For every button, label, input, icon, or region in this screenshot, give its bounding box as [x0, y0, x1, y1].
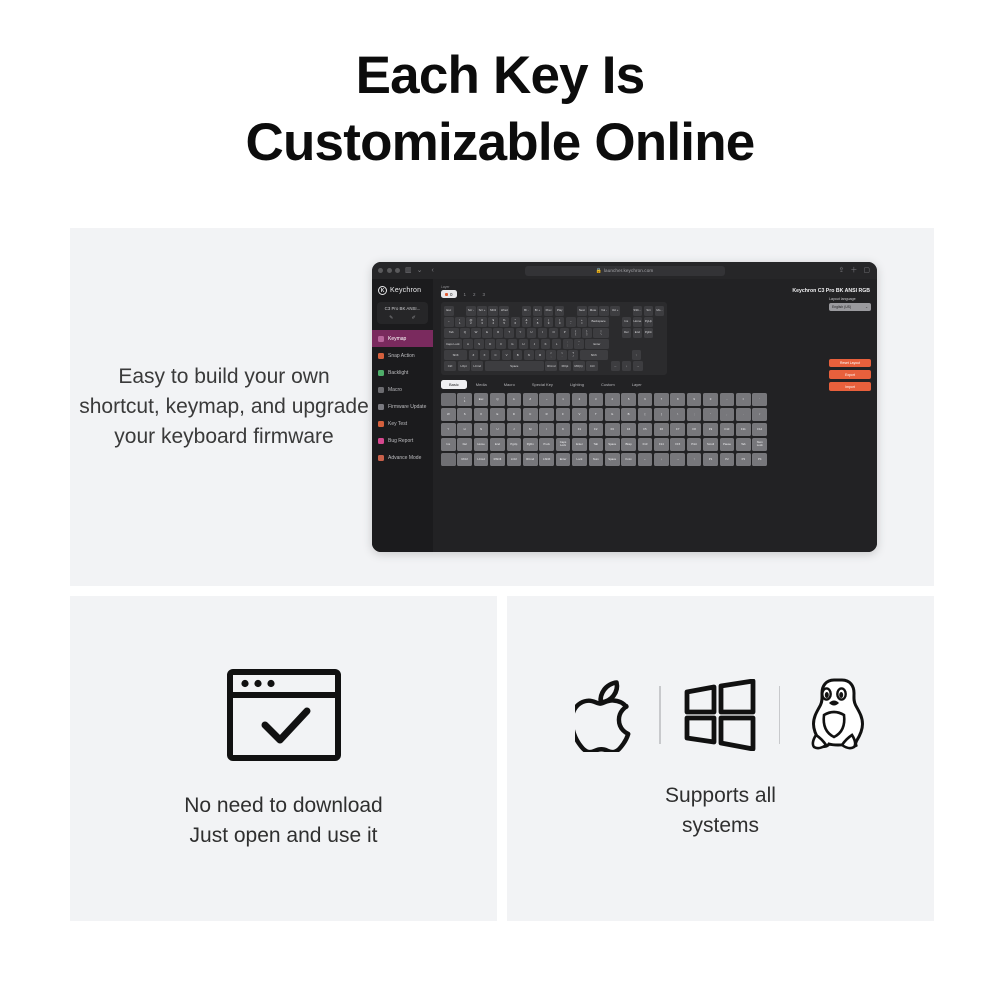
tab-lighting[interactable]: Lighting [562, 380, 592, 389]
keyboard-key[interactable]: S [474, 339, 484, 349]
keyboard-key[interactable]: Vol + [610, 306, 620, 316]
apple-logo-icon [575, 678, 637, 752]
keyboard-key[interactable]: |\ [593, 328, 609, 338]
keyboard-key[interactable]: E [482, 328, 492, 338]
sidebar-toggle-icon[interactable]: ▥ [405, 267, 412, 274]
keyboard-key[interactable]: {[ [571, 328, 581, 338]
keyboard-key[interactable]: (9 [544, 317, 554, 327]
keyboard-key[interactable]: → [633, 361, 643, 371]
keyboard-key[interactable]: I [538, 328, 548, 338]
keycode-cap[interactable]: - [720, 393, 735, 406]
keyboard-key[interactable]: PgDn [644, 328, 654, 338]
keyboard-key[interactable]: W [471, 328, 481, 338]
sidebar-item-keymap[interactable]: Keymap [372, 330, 433, 347]
keycode-cap[interactable]: F8 [687, 423, 702, 436]
keyboard-key[interactable]: R [493, 328, 503, 338]
keyboard-key[interactable]: ↑ [632, 350, 642, 360]
keyboard-key[interactable]: @2 [466, 317, 476, 327]
keyboard-key[interactable]: )0 [555, 317, 565, 327]
keycode-cap[interactable]: ↓ [654, 453, 669, 466]
keyboard-row: ShiftZXCVBNM<,>.?/Shift↑ [444, 350, 664, 360]
sidebar-item-label: Key Test [388, 421, 407, 427]
keyboard-key[interactable]: :; [563, 339, 573, 349]
keycode-cap[interactable]: LCtrl [507, 453, 522, 466]
sidebar-item-macro[interactable]: Macro [372, 381, 433, 398]
address-bar[interactable]: 🔒 launcher.keychron.com [525, 266, 725, 276]
keycode-cap[interactable]: End [490, 438, 505, 451]
keycode-cap[interactable]: E [490, 408, 505, 421]
sidebar-item-key-test[interactable]: Key Test [372, 415, 433, 432]
device-card[interactable]: C3 Pro BK ANSI... ✎ ✐ [377, 302, 428, 324]
sidebar-item-label: Firmware Update [388, 404, 426, 410]
keyboard-key[interactable]: L [552, 339, 562, 349]
keyboard-key[interactable]: C [491, 350, 501, 360]
keycode-cap[interactable]: C [523, 408, 538, 421]
keycode-cap[interactable]: P3 [736, 453, 751, 466]
keyboard-key[interactable]: Esc [444, 306, 454, 316]
keycode-cap[interactable]: K [556, 423, 571, 436]
keyboard-key[interactable]: ROpt [559, 361, 571, 371]
keyboard-row: CtrlLOptLCmdSpaceRCmdROptMO(1)Ctrl←↓→ [444, 361, 664, 371]
keycode-cap[interactable]: Print [687, 438, 702, 451]
keycode-cap[interactable]: 5 [621, 393, 636, 406]
keycode-cap[interactable]: ` [752, 393, 767, 406]
keycode-row: InsDelHomeEndPgUpPgDnP.LckCapsLockEnterT… [441, 438, 870, 451]
brand: K Keychron [372, 284, 433, 299]
keyboard-key[interactable]: T [504, 328, 514, 338]
keyboard-key[interactable]: Tab [444, 328, 459, 338]
keyboard-key[interactable]: Prev [544, 306, 554, 316]
address-bar-url: launcher.keychron.com [604, 268, 653, 273]
keyboard-key[interactable]: End [633, 328, 643, 338]
tab-macro[interactable]: Macro [496, 380, 523, 389]
keyboard-key[interactable]: >. [557, 350, 567, 360]
keycode-cap[interactable]: P4 [752, 453, 767, 466]
keycode-cap[interactable]: ~ [539, 393, 554, 406]
layout-action-buttons: Reset LayoutExportImport [829, 359, 871, 391]
key-spacer [566, 306, 576, 316]
keyboard-key[interactable]: Space [485, 361, 544, 371]
sidebar-item-firmware-update[interactable]: Firmware Update [372, 398, 433, 415]
keyboard-key[interactable]: LPad [499, 306, 509, 316]
keyboard-key[interactable]: Scr - [466, 306, 476, 316]
no-download-caption-line-2: Just open and use it [184, 821, 383, 851]
keyboard-key[interactable]: ← [611, 361, 621, 371]
keycode-cap[interactable]: Lock [572, 453, 587, 466]
layer-caption: Layer [441, 285, 485, 289]
keycode-cap[interactable] [441, 393, 456, 406]
keyboard-key[interactable]: Caps Lock [444, 339, 462, 349]
keycode-cap[interactable]: F2 [589, 423, 604, 436]
keycode-cap[interactable]: 7 [654, 393, 669, 406]
keycode-cap[interactable]: / [752, 408, 767, 421]
keyboard-layout[interactable]: EscScr -Scr +MCtlLPadBr -Br +PrevPlayNex… [441, 302, 667, 375]
keycode-cap[interactable]: F12 [752, 423, 767, 436]
keyboard-key[interactable]: Siri [644, 306, 654, 316]
keyboard-row: EscScr -Scr +MCtlLPadBr -Br +PrevPlayNex… [444, 306, 664, 316]
keyboard-key[interactable]: *8 [533, 317, 543, 327]
keycode-cap[interactable]: ' [703, 408, 718, 421]
tab-special-key[interactable]: Special Key [524, 380, 561, 389]
keycode-cap[interactable]: Bksp [621, 438, 636, 451]
keyboard-key[interactable]: Br + [533, 306, 543, 316]
keyboard-key[interactable]: %5 [499, 317, 509, 327]
keyboard-key[interactable]: !1 [455, 317, 465, 327]
key-test-icon [378, 421, 384, 427]
keycode-cap[interactable]: Enter [572, 438, 587, 451]
keycode-cap[interactable]: ← [638, 453, 653, 466]
layout-language-value: English (US) [832, 305, 851, 309]
key-spacer [610, 328, 620, 338]
keyboard-key[interactable]: A [463, 339, 473, 349]
brand-name: Keychron [390, 287, 421, 294]
keycode-cap[interactable]: CapsLock [556, 438, 571, 451]
device-actions: ✎ ✐ [380, 315, 425, 321]
keyboard-key[interactable]: Z [469, 350, 479, 360]
tabs-icon[interactable]: ▢ [863, 267, 870, 274]
launcher-copy-line-4: your keyboard [114, 425, 247, 448]
keyboard-key[interactable]: LCmd [471, 361, 483, 371]
keyboard-key[interactable]: Home [633, 317, 643, 327]
keycode-cap[interactable]: Z [523, 393, 538, 406]
keycode-cap[interactable]: Enter [556, 453, 571, 466]
supports-systems-caption-line-1: Supports all [665, 781, 776, 811]
keyboard-key[interactable]: K [541, 339, 551, 349]
keyboard-key[interactable]: Ctrl [444, 361, 456, 371]
feature-card-no-download: No need to download Just open and use it [70, 596, 497, 921]
keyboard-key[interactable]: ?/ [568, 350, 578, 360]
keyboard-key[interactable]: RCmd [545, 361, 557, 371]
keyboard-key[interactable]: Br - [522, 306, 532, 316]
keyboard-key[interactable]: F [496, 339, 506, 349]
keycode-cap[interactable]: N [474, 423, 489, 436]
keycode-cap[interactable]: M [523, 423, 538, 436]
feature-card-launcher: Easy to build your own shortcut, keymap,… [70, 228, 934, 586]
keycode-cap[interactable]: F15 [670, 438, 685, 451]
keyboard-key[interactable]: Ins [622, 317, 632, 327]
keycode-cap[interactable]: ] [654, 408, 669, 421]
keycode-cap[interactable]: W [441, 408, 456, 421]
keycode-cap[interactable]: RCtrl [457, 453, 472, 466]
keycode-cap[interactable]: PgDn [523, 438, 538, 451]
pencil-icon[interactable]: ✎ [389, 315, 393, 321]
keycode-cap[interactable]: F7 [670, 423, 685, 436]
keycode-cap[interactable]: Tab [589, 438, 604, 451]
firmware-update-icon [378, 404, 384, 410]
chevron-down-icon: ⌄ [865, 305, 868, 309]
keycode-cap[interactable]: PgUp [507, 438, 522, 451]
close-window-icon[interactable] [378, 268, 383, 273]
launcher-app: K Keychron C3 Pro BK ANSI... ✎ ✐ KeymapS… [372, 279, 877, 552]
keycode-cap[interactable]: F14 [654, 438, 669, 451]
keyboard-row: TabQWERTYUIOP{[}]|\DelEndPgDn [444, 328, 664, 338]
key-spacer [455, 306, 465, 316]
keycode-cap[interactable]: Del [457, 438, 472, 451]
import-button[interactable]: Import [829, 382, 871, 390]
sidebar-item-label: Snap Action [388, 353, 415, 359]
keycode-row: RCtrlLCmdRShiftLCtrlRCmdLShiftEnterLockN… [441, 453, 870, 466]
page-title-line-2: Customizable Online [0, 109, 1000, 176]
tab-basic[interactable]: Basic [441, 380, 467, 389]
keyboard-key[interactable]: P [560, 328, 570, 338]
keycode-cap[interactable]: U [490, 423, 505, 436]
keycode-cap[interactable]: LCmd [474, 453, 489, 466]
keycode-cap[interactable]: S [457, 408, 472, 421]
keyboard-key[interactable]: Scr + [477, 306, 487, 316]
layout-language-select[interactable]: English (US) ⌄ [829, 303, 871, 311]
keyboard-key[interactable]: X [480, 350, 490, 360]
keycode-cap[interactable]: R [539, 408, 554, 421]
keycode-cap[interactable]: T [589, 408, 604, 421]
keycode-cap[interactable]: Home [474, 438, 489, 451]
keycode-cap[interactable]: J [507, 423, 522, 436]
keycode-cap[interactable]: P2 [720, 453, 735, 466]
keychron-logo-icon: K [378, 286, 387, 295]
keyboard-key[interactable]: #3 [477, 317, 487, 327]
keymap-icon [378, 336, 384, 342]
keycode-cap[interactable]: ↑ [687, 453, 702, 466]
layer-tab-selected-label: 0 [450, 292, 453, 297]
chevron-down-icon[interactable]: ⌄ [417, 267, 423, 274]
keycode-cap[interactable]: = [736, 393, 751, 406]
bug-report-icon [378, 438, 384, 444]
keycode-cap[interactable]: F13 [638, 438, 653, 451]
key-spacer [610, 317, 620, 327]
layer-tab-2[interactable]: 2 [473, 292, 476, 297]
keyboard-key[interactable]: Del [622, 328, 632, 338]
supports-systems-caption: Supports all systems [665, 781, 776, 841]
keyboard-key[interactable]: MCtl [488, 306, 498, 316]
browser-check-icon [225, 667, 343, 763]
layer-tab-selected[interactable]: 0 [441, 290, 457, 298]
keycode-cap[interactable]: Num [589, 453, 604, 466]
keyboard-key[interactable]: "' [574, 339, 584, 349]
reset-layout-button[interactable]: Reset Layout [829, 359, 871, 367]
keyboard-key[interactable]: N [524, 350, 534, 360]
keyboard-key[interactable]: Shift [580, 350, 608, 360]
keyboard-key[interactable]: D [485, 339, 495, 349]
backlight-icon [378, 370, 384, 376]
layer-tab-1[interactable]: 1 [464, 292, 467, 297]
keyboard-key[interactable]: Mute [588, 306, 598, 316]
keycode-grid[interactable]: !1EscQAZ~1234567890-=`WSXEDCRFVTGB[]\;',… [441, 393, 870, 465]
keycode-cap[interactable] [441, 453, 456, 466]
keyboard-key[interactable]: ^6 [511, 317, 521, 327]
keycode-cap[interactable]: LShift [539, 453, 554, 466]
key-spacer [511, 306, 521, 316]
no-download-caption-line-1: No need to download [184, 791, 383, 821]
maximize-window-icon[interactable] [395, 268, 400, 273]
keyboard-key[interactable]: <, [546, 350, 556, 360]
keycode-cap[interactable]: Esc [474, 393, 489, 406]
keyboard-key[interactable]: Play [555, 306, 565, 316]
keycode-cap[interactable]: F6 [654, 423, 669, 436]
keycode-cap[interactable]: Kmix [621, 453, 636, 466]
keycode-cap[interactable]: !1 [457, 393, 472, 406]
keycode-cap[interactable]: Pause [720, 438, 735, 451]
window-controls[interactable] [378, 268, 400, 273]
keyboard-key[interactable]: H [519, 339, 529, 349]
keyboard-key[interactable]: $4 [488, 317, 498, 327]
keycode-cap[interactable]: G [605, 408, 620, 421]
keyboard-key[interactable]: Backspace [588, 317, 609, 327]
keycode-picker-tabs: BasicMediaMacroSpecial KeyLightingCustom… [441, 380, 870, 389]
keycode-cap[interactable]: P.Lck [539, 438, 554, 451]
keyboard-key[interactable]: MO(1) [573, 361, 585, 371]
keycode-cap[interactable]: 3 [589, 393, 604, 406]
minimize-window-icon[interactable] [387, 268, 392, 273]
layer-tab-3[interactable]: 3 [483, 292, 486, 297]
keycode-cap[interactable]: \ [670, 408, 685, 421]
os-logo-row [575, 677, 866, 753]
keycode-cap[interactable]: Space [605, 438, 620, 451]
sidebar-item-label: Backlight [388, 370, 408, 376]
keyboard-key[interactable]: PgUp [644, 317, 654, 327]
keycode-cap[interactable]: D [507, 408, 522, 421]
main-header: Layer 0 1 2 3 Keychron C3 [441, 285, 870, 298]
keyboard-key[interactable]: += [577, 317, 587, 327]
keycode-cap[interactable]: Space [605, 453, 620, 466]
keycode-cap[interactable]: F3 [605, 423, 620, 436]
keyboard-key[interactable]: Next [577, 306, 587, 316]
layer-color-swatch [445, 293, 448, 296]
advance-mode-icon [378, 455, 384, 461]
keycode-cap[interactable]: A [507, 393, 522, 406]
linux-penguin-icon [802, 677, 866, 753]
keyboard-key[interactable]: &7 [522, 317, 532, 327]
keycode-cap[interactable]: F1 [572, 423, 587, 436]
lock-icon: 🔒 [596, 268, 602, 274]
keycode-cap[interactable]: F5 [638, 423, 653, 436]
browser-chrome: ▥ ⌄ ‹ 🔒 launcher.keychron.com ⇪ ＋ ▢ [372, 262, 877, 279]
launcher-copy-line-5: firmware [253, 425, 334, 448]
key-spacer [620, 350, 630, 360]
keyboard-key[interactable]: }] [582, 328, 592, 338]
logo-divider-2 [779, 686, 781, 744]
keycode-picker: BasicMediaMacroSpecial KeyLightingCustom… [441, 380, 870, 466]
keycode-cap[interactable]: Tab [736, 438, 751, 451]
keycode-cap[interactable]: 6 [638, 393, 653, 406]
browser-chrome-actions: ⇪ ＋ ▢ [839, 267, 871, 274]
keyboard-key[interactable]: G [508, 339, 518, 349]
keycode-cap[interactable]: F [556, 408, 571, 421]
sidebar-item-label: Advance Mode [388, 455, 421, 461]
keycode-cap[interactable]: 0 [703, 393, 718, 406]
sidebar-item-backlight[interactable]: Backlight [372, 364, 433, 381]
keycode-cap[interactable]: 9 [687, 393, 702, 406]
keyboard-row: Caps LockASDFGHJKL:;"'Enter [444, 339, 664, 349]
tab-custom[interactable]: Custom [593, 380, 623, 389]
keyboard-row: ~!1@2#3$4%5^6&7*8(9)0_-+=BackspaceInsHom… [444, 317, 664, 327]
app-sidebar: K Keychron C3 Pro BK ANSI... ✎ ✐ KeymapS… [372, 279, 433, 552]
keyboard-key[interactable]: Vol - [599, 306, 609, 316]
wand-icon[interactable]: ✐ [412, 315, 416, 321]
keycode-cap[interactable]: → [670, 453, 685, 466]
tab-media[interactable]: Media [468, 380, 495, 389]
keycode-cap[interactable]: 4 [605, 393, 620, 406]
keycode-row: !1EscQAZ~1234567890-=` [441, 393, 870, 406]
keyboard-key[interactable]: Shift [444, 350, 467, 360]
keyboard-key[interactable]: O [549, 328, 559, 338]
key-spacer [600, 361, 610, 371]
keyboard-key[interactable]: B [513, 350, 523, 360]
plus-icon[interactable]: ＋ [850, 267, 857, 274]
key-spacer [622, 306, 632, 316]
keyboard-key[interactable]: ~ [444, 317, 454, 327]
page-title: Each Key Is Customizable Online [0, 0, 1000, 177]
keycode-cap[interactable]: I [539, 423, 554, 436]
logo-divider-1 [659, 686, 661, 744]
keycode-cap[interactable]: V [572, 408, 587, 421]
launcher-copy: Easy to build your own shortcut, keymap,… [70, 362, 370, 451]
keycode-cap[interactable]: RCmd [523, 453, 538, 466]
keycode-cap[interactable]: ; [687, 408, 702, 421]
keycode-cap[interactable]: RShift [490, 453, 505, 466]
keycode-cap[interactable]: B [621, 408, 636, 421]
layout-language-panel: Layout language English (US) ⌄ Reset Lay… [829, 297, 871, 391]
keycode-cap[interactable]: P1 [703, 453, 718, 466]
keycode-cap[interactable]: 8 [670, 393, 685, 406]
share-icon[interactable]: ⇪ [839, 267, 845, 274]
keycode-cap[interactable]: [ [638, 408, 653, 421]
keycode-cap[interactable]: X [474, 408, 489, 421]
keycode-cap[interactable]: F10 [720, 423, 735, 436]
supports-systems-caption-line-2: systems [665, 811, 776, 841]
keycode-cap[interactable]: 2 [572, 393, 587, 406]
keyboard-key[interactable]: Ctrl [586, 361, 598, 371]
keyboard-key[interactable]: LOpt [458, 361, 470, 371]
keyboard-key[interactable]: ↓ [622, 361, 632, 371]
keycode-cap[interactable]: 1 [556, 393, 571, 406]
keycode-cap[interactable]: F4 [621, 423, 636, 436]
keycode-cap[interactable]: F9 [703, 423, 718, 436]
launcher-copy-line-1: Easy to build your [118, 365, 285, 388]
no-download-caption: No need to download Just open and use it [184, 791, 383, 851]
layout-language-label: Layout language [829, 297, 871, 301]
keyboard-key[interactable]: J [530, 339, 540, 349]
sidebar-item-label: Keymap [388, 336, 406, 342]
keycode-cap[interactable]: F11 [736, 423, 751, 436]
keycode-cap[interactable]: . [736, 408, 751, 421]
keycode-cap[interactable]: Ins [441, 438, 456, 451]
sidebar-item-advance-mode[interactable]: Advance Mode [372, 449, 433, 466]
keycode-cap[interactable]: , [720, 408, 735, 421]
keyboard-key[interactable]: Mo... [655, 306, 665, 316]
keyboard-key[interactable]: Q [460, 328, 470, 338]
sidebar-item-bug-report[interactable]: Bug Report [372, 432, 433, 449]
keycode-cap[interactable]: Scroll [703, 438, 718, 451]
layer-tabs: 0 1 2 3 [441, 290, 485, 298]
key-spacer [609, 350, 619, 360]
keycode-cap[interactable]: H [457, 423, 472, 436]
keyboard-key[interactable]: _- [566, 317, 576, 327]
browser-window: ▥ ⌄ ‹ 🔒 launcher.keychron.com ⇪ ＋ ▢ K [372, 262, 877, 552]
keyboard-key[interactable]: M [535, 350, 545, 360]
export-button[interactable]: Export [829, 370, 871, 378]
chevron-left-icon[interactable]: ‹ [432, 267, 434, 274]
tab-layer[interactable]: Layer [624, 380, 650, 389]
keyboard-key[interactable]: U [527, 328, 537, 338]
keyboard-key[interactable]: SSh... [633, 306, 643, 316]
keyboard-key[interactable]: V [502, 350, 512, 360]
macro-icon [378, 387, 384, 393]
keycode-cap[interactable]: Y [441, 423, 456, 436]
keyboard-key[interactable]: Y [516, 328, 526, 338]
sidebar-item-snap-action[interactable]: Snap Action [372, 347, 433, 364]
keycode-cap[interactable]: Q [490, 393, 505, 406]
keyboard-key[interactable]: Enter [585, 339, 609, 349]
keycode-cap[interactable]: NumLock [752, 438, 767, 451]
